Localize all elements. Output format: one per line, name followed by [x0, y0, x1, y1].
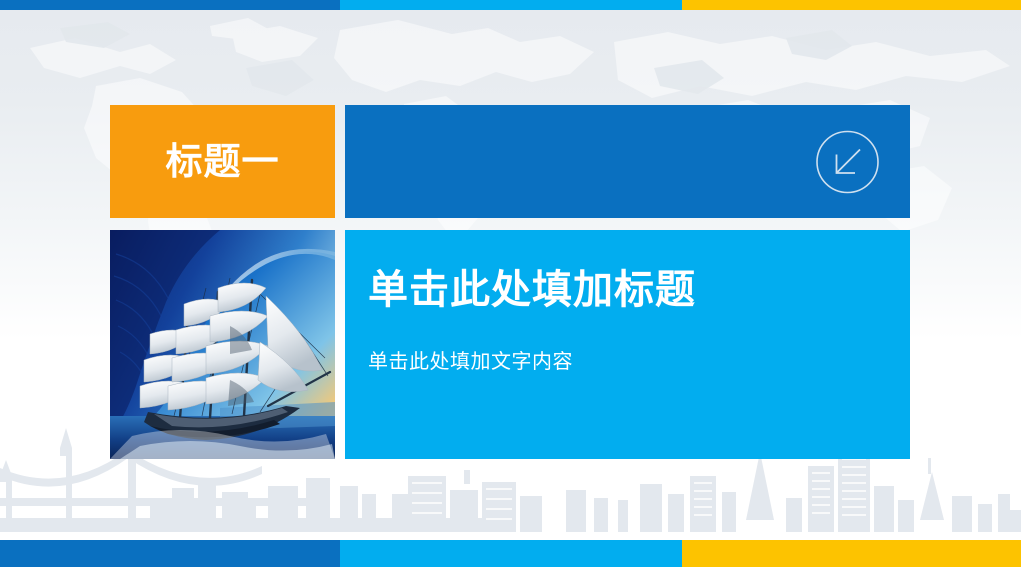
top-color-bar: [0, 0, 1021, 10]
bottom-bar-cyan-segment: [340, 540, 682, 567]
top-bar-cyan-segment: [340, 0, 682, 10]
header-accent-bar[interactable]: [345, 105, 910, 218]
bottom-bar-blue-segment: [0, 540, 340, 567]
section-title-label: 标题一: [166, 143, 280, 180]
bottom-bar-yellow-segment: [682, 540, 1021, 567]
top-bar-blue-segment: [0, 0, 340, 10]
arrow-down-left-circle-icon[interactable]: [815, 129, 880, 194]
sailing-ship-wave-photo[interactable]: [110, 230, 335, 459]
bottom-color-bar: [0, 540, 1021, 567]
top-bar-yellow-segment: [682, 0, 1021, 10]
presentation-slide: 标题一: [0, 0, 1021, 567]
section-title-box[interactable]: 标题一: [110, 105, 335, 218]
content-title: 单击此处填加标题: [368, 268, 910, 312]
content-text-box[interactable]: 单击此处填加标题 单击此处填加文字内容: [345, 230, 910, 459]
content-subtitle: 单击此处填加文字内容: [368, 345, 910, 374]
